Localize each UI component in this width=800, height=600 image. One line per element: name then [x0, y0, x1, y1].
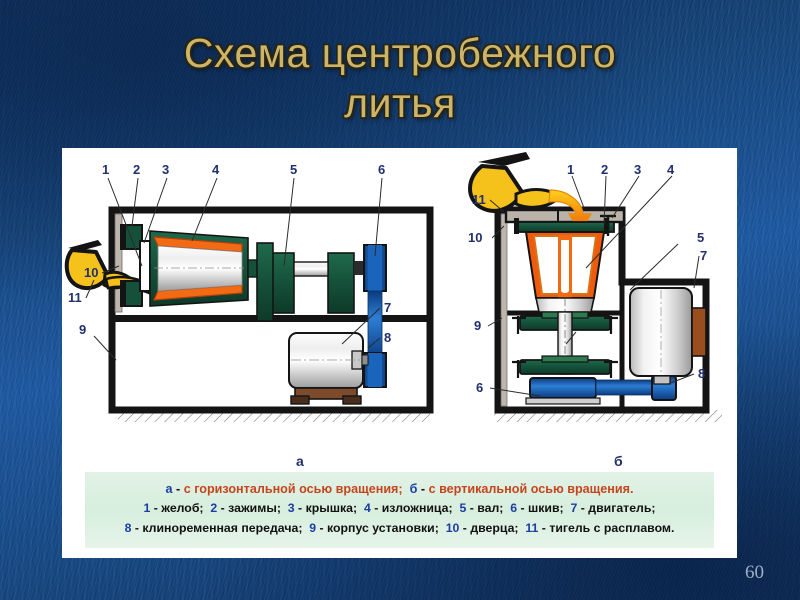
svg-text:8: 8 — [698, 366, 705, 381]
page-title-line-1: Схема центробежного — [0, 28, 800, 78]
diagram-a-horizontal-axis: 1 2 3 4 5 6 7 8 10 9 11 — [67, 162, 430, 422]
legend-label-5: вал — [477, 501, 499, 515]
legend-label-9: корпус установки — [327, 521, 435, 535]
svg-text:10: 10 — [84, 265, 98, 280]
legend-label-6: шкив — [528, 501, 560, 515]
legend-end-1: ; — [199, 501, 203, 515]
legend-line-1: 1 - желоб; 2 - зажимы; 3 - крышка; 4 - и… — [91, 499, 708, 519]
mold-top-plate-b — [516, 222, 614, 232]
svg-text:5: 5 — [290, 162, 297, 177]
svg-text:4: 4 — [212, 162, 220, 177]
legend-end-10: ; — [514, 521, 518, 535]
subcaption-a: а — [296, 453, 304, 469]
legend-end-2: ; — [277, 501, 281, 515]
svg-text:4: 4 — [667, 162, 675, 177]
svg-text:6: 6 — [378, 162, 385, 177]
legend-dash-b: - — [417, 482, 428, 496]
legend-num-11: 11 — [525, 521, 538, 535]
svg-text:5: 5 — [697, 230, 704, 245]
diagram-b-vertical-axis: 1 2 3 4 5 7 8 9 10 11 6 — [468, 152, 722, 422]
page-title: Схема центробежного литья — [0, 28, 800, 128]
legend-label-7: двигатель — [588, 501, 651, 515]
figure-panel: 1 2 3 4 5 6 7 8 10 9 11 — [62, 148, 737, 558]
legend-label-8: клиноременная передача — [142, 521, 298, 535]
motor-b — [630, 288, 706, 384]
legend-box: а - с горизонтальной осью вращения; б - … — [85, 472, 714, 548]
svg-text:9: 9 — [474, 318, 481, 333]
legend-end-6: ; — [560, 501, 564, 515]
legend-label-2: зажимы — [228, 501, 277, 515]
legend-key-a: а — [165, 482, 172, 496]
centrifugal-casting-diagrams-svg: 1 2 3 4 5 6 7 8 10 9 11 — [62, 148, 737, 448]
slide-background: Схема центробежного литья — [0, 0, 800, 600]
legend-label-4: изложница — [382, 501, 449, 515]
legend-label-11: тигель с расплавом — [549, 521, 671, 535]
legend-label-10: дверца — [470, 521, 514, 535]
svg-text:7: 7 — [384, 300, 391, 315]
svg-text:9: 9 — [79, 322, 86, 337]
shaft-a — [248, 243, 354, 321]
legend-desc-a: с горизонтальной осью вращения; — [184, 482, 403, 496]
legend-end-8: ; — [298, 521, 302, 535]
legend-end-5: ; — [499, 501, 503, 515]
svg-text:3: 3 — [634, 162, 641, 177]
svg-text:1: 1 — [567, 162, 574, 177]
legend-num-3: 3 — [288, 501, 295, 515]
legend-end-9: ; — [435, 521, 439, 535]
svg-text:3: 3 — [162, 162, 169, 177]
legend-label-3: крышка — [306, 501, 353, 515]
svg-text:1: 1 — [102, 162, 109, 177]
svg-text:2: 2 — [133, 162, 140, 177]
svg-text:8: 8 — [384, 330, 391, 345]
mold-a — [150, 231, 248, 306]
legend-end-3: ; — [353, 501, 357, 515]
legend-end-4: ; — [448, 501, 452, 515]
callout-11-a: 11 — [68, 290, 82, 305]
svg-text:2: 2 — [601, 162, 608, 177]
legend-label-1: желоб — [161, 501, 199, 515]
legend-line-2: 8 - клиноременная передача; 9 - корпус у… — [91, 519, 708, 539]
door-b — [501, 214, 507, 406]
page-title-line-2: литья — [0, 78, 800, 128]
legend-end-11: . — [671, 521, 674, 535]
svg-text:7: 7 — [700, 248, 707, 263]
legend-line-ab: а - с горизонтальной осью вращения; б - … — [91, 479, 708, 499]
svg-text:11: 11 — [472, 192, 486, 207]
svg-text:6: 6 — [476, 380, 483, 395]
legend-end-7: ; — [651, 501, 655, 515]
legend-num-4: 4 — [364, 501, 371, 515]
subcaption-b: б — [614, 453, 623, 469]
legend-dash-a: - — [173, 482, 184, 496]
diagrams-container: 1 2 3 4 5 6 7 8 10 9 11 — [62, 148, 737, 448]
page-number: 60 — [745, 562, 764, 584]
legend-num-10: 10 — [446, 521, 460, 535]
legend-desc-b: с вертикальной осью вращения. — [429, 482, 634, 496]
motor-a — [289, 333, 368, 404]
svg-text:10: 10 — [468, 230, 482, 245]
